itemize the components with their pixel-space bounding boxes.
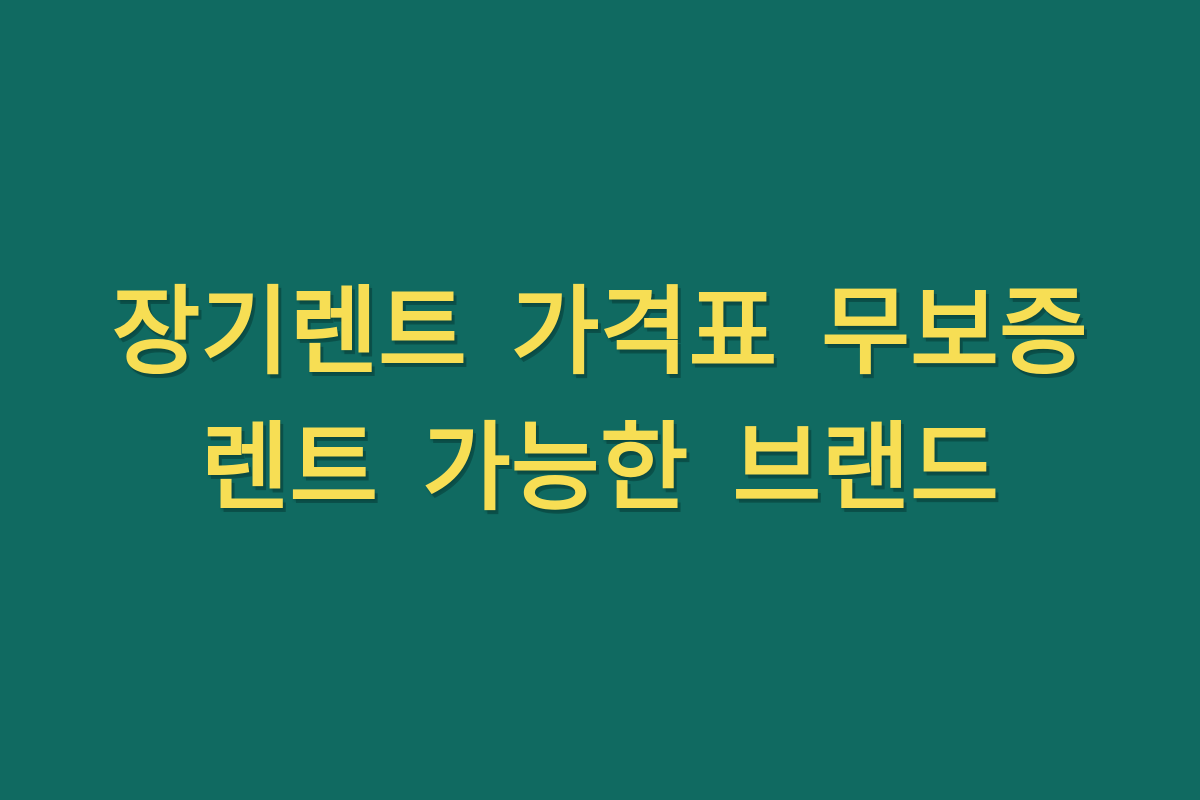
- page-title: 장기렌트 가격표 무보증 렌트 가능한 브랜드: [50, 264, 1150, 536]
- headline-line-1: 장기렌트 가격표 무보증: [50, 264, 1150, 400]
- headline-line-2: 렌트 가능한 브랜드: [50, 400, 1150, 536]
- banner-canvas: 장기렌트 가격표 무보증 렌트 가능한 브랜드: [0, 0, 1200, 800]
